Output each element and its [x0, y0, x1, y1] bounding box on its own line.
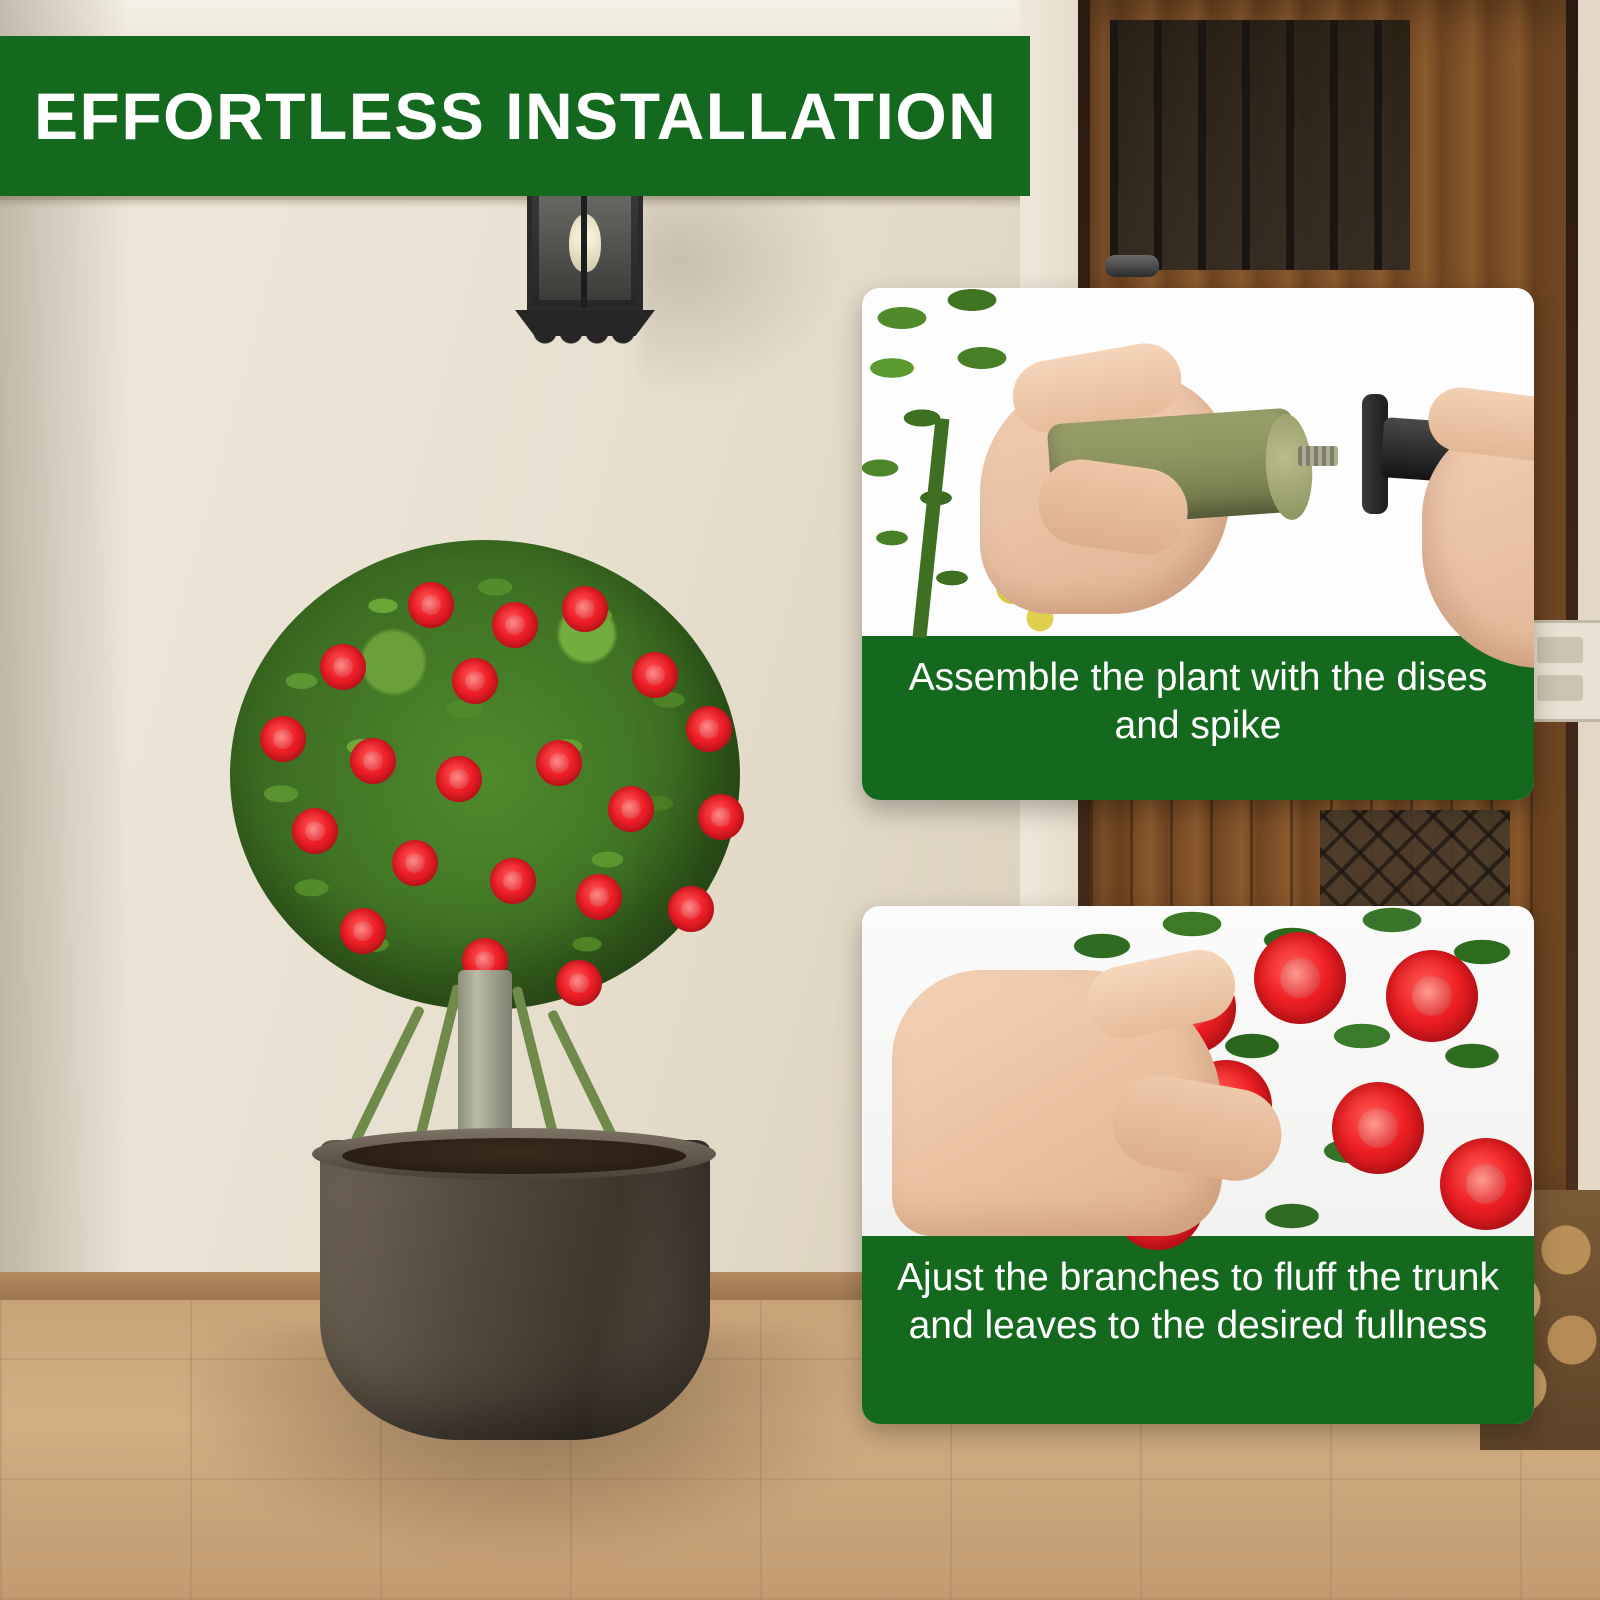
rose-bloom: [1254, 932, 1346, 1024]
assemble-step-caption: Assemble the plant with the dises and sp…: [862, 636, 1534, 800]
rose-bloom: [556, 960, 602, 1006]
rose-bloom: [698, 794, 744, 840]
rose-bloom: [350, 738, 396, 784]
product-infographic: EFFORTLESS INSTALLATION Assemble the pla…: [0, 0, 1600, 1600]
pot-soil: [342, 1138, 686, 1174]
rose-bloom: [686, 706, 732, 752]
banner-title: EFFORTLESS INSTALLATION: [0, 78, 997, 154]
fluff-step-caption: Ajust the branches to fluff the trunk an…: [862, 1236, 1534, 1424]
rose-bloom: [490, 858, 536, 904]
rose-bloom: [260, 716, 306, 762]
rose-bloom: [492, 602, 538, 648]
rose-bloom: [408, 582, 454, 628]
rose-bloom: [292, 808, 338, 854]
rose-bloom: [576, 874, 622, 920]
lantern-wall-shadow: [640, 170, 840, 400]
rose-bloom: [340, 908, 386, 954]
assemble-step-photo: [862, 288, 1534, 636]
potted-topiary-with-red-roses: [200, 540, 760, 1440]
rose-bloom: [452, 658, 498, 704]
step-card-assemble: Assemble the plant with the dises and sp…: [862, 288, 1534, 800]
rose-bloom: [562, 586, 608, 632]
wall-corner-shadow: [0, 0, 130, 1330]
ceramic-planter-pot: [320, 1140, 710, 1440]
rose-bloom: [608, 786, 654, 832]
rose-bloom: [392, 840, 438, 886]
rose-bloom: [436, 756, 482, 802]
door-handle: [1105, 255, 1159, 277]
lantern-scallop-trim: [533, 332, 637, 354]
rose-bloom: [632, 652, 678, 698]
door-iron-bars: [1110, 20, 1410, 270]
header-banner: EFFORTLESS INSTALLATION: [0, 36, 1030, 196]
fluff-step-photo: [862, 906, 1534, 1236]
rose-bloom: [668, 886, 714, 932]
rose-bloom: [1440, 1138, 1532, 1230]
rose-bloom: [1332, 1082, 1424, 1174]
step-card-fluff: Ajust the branches to fluff the trunk an…: [862, 906, 1534, 1424]
branch: [547, 1009, 622, 1148]
rose-bloom: [1386, 950, 1478, 1042]
rose-bloom: [320, 644, 366, 690]
branch: [351, 1005, 426, 1144]
rose-bloom: [536, 740, 582, 786]
threaded-screw: [1298, 446, 1338, 466]
